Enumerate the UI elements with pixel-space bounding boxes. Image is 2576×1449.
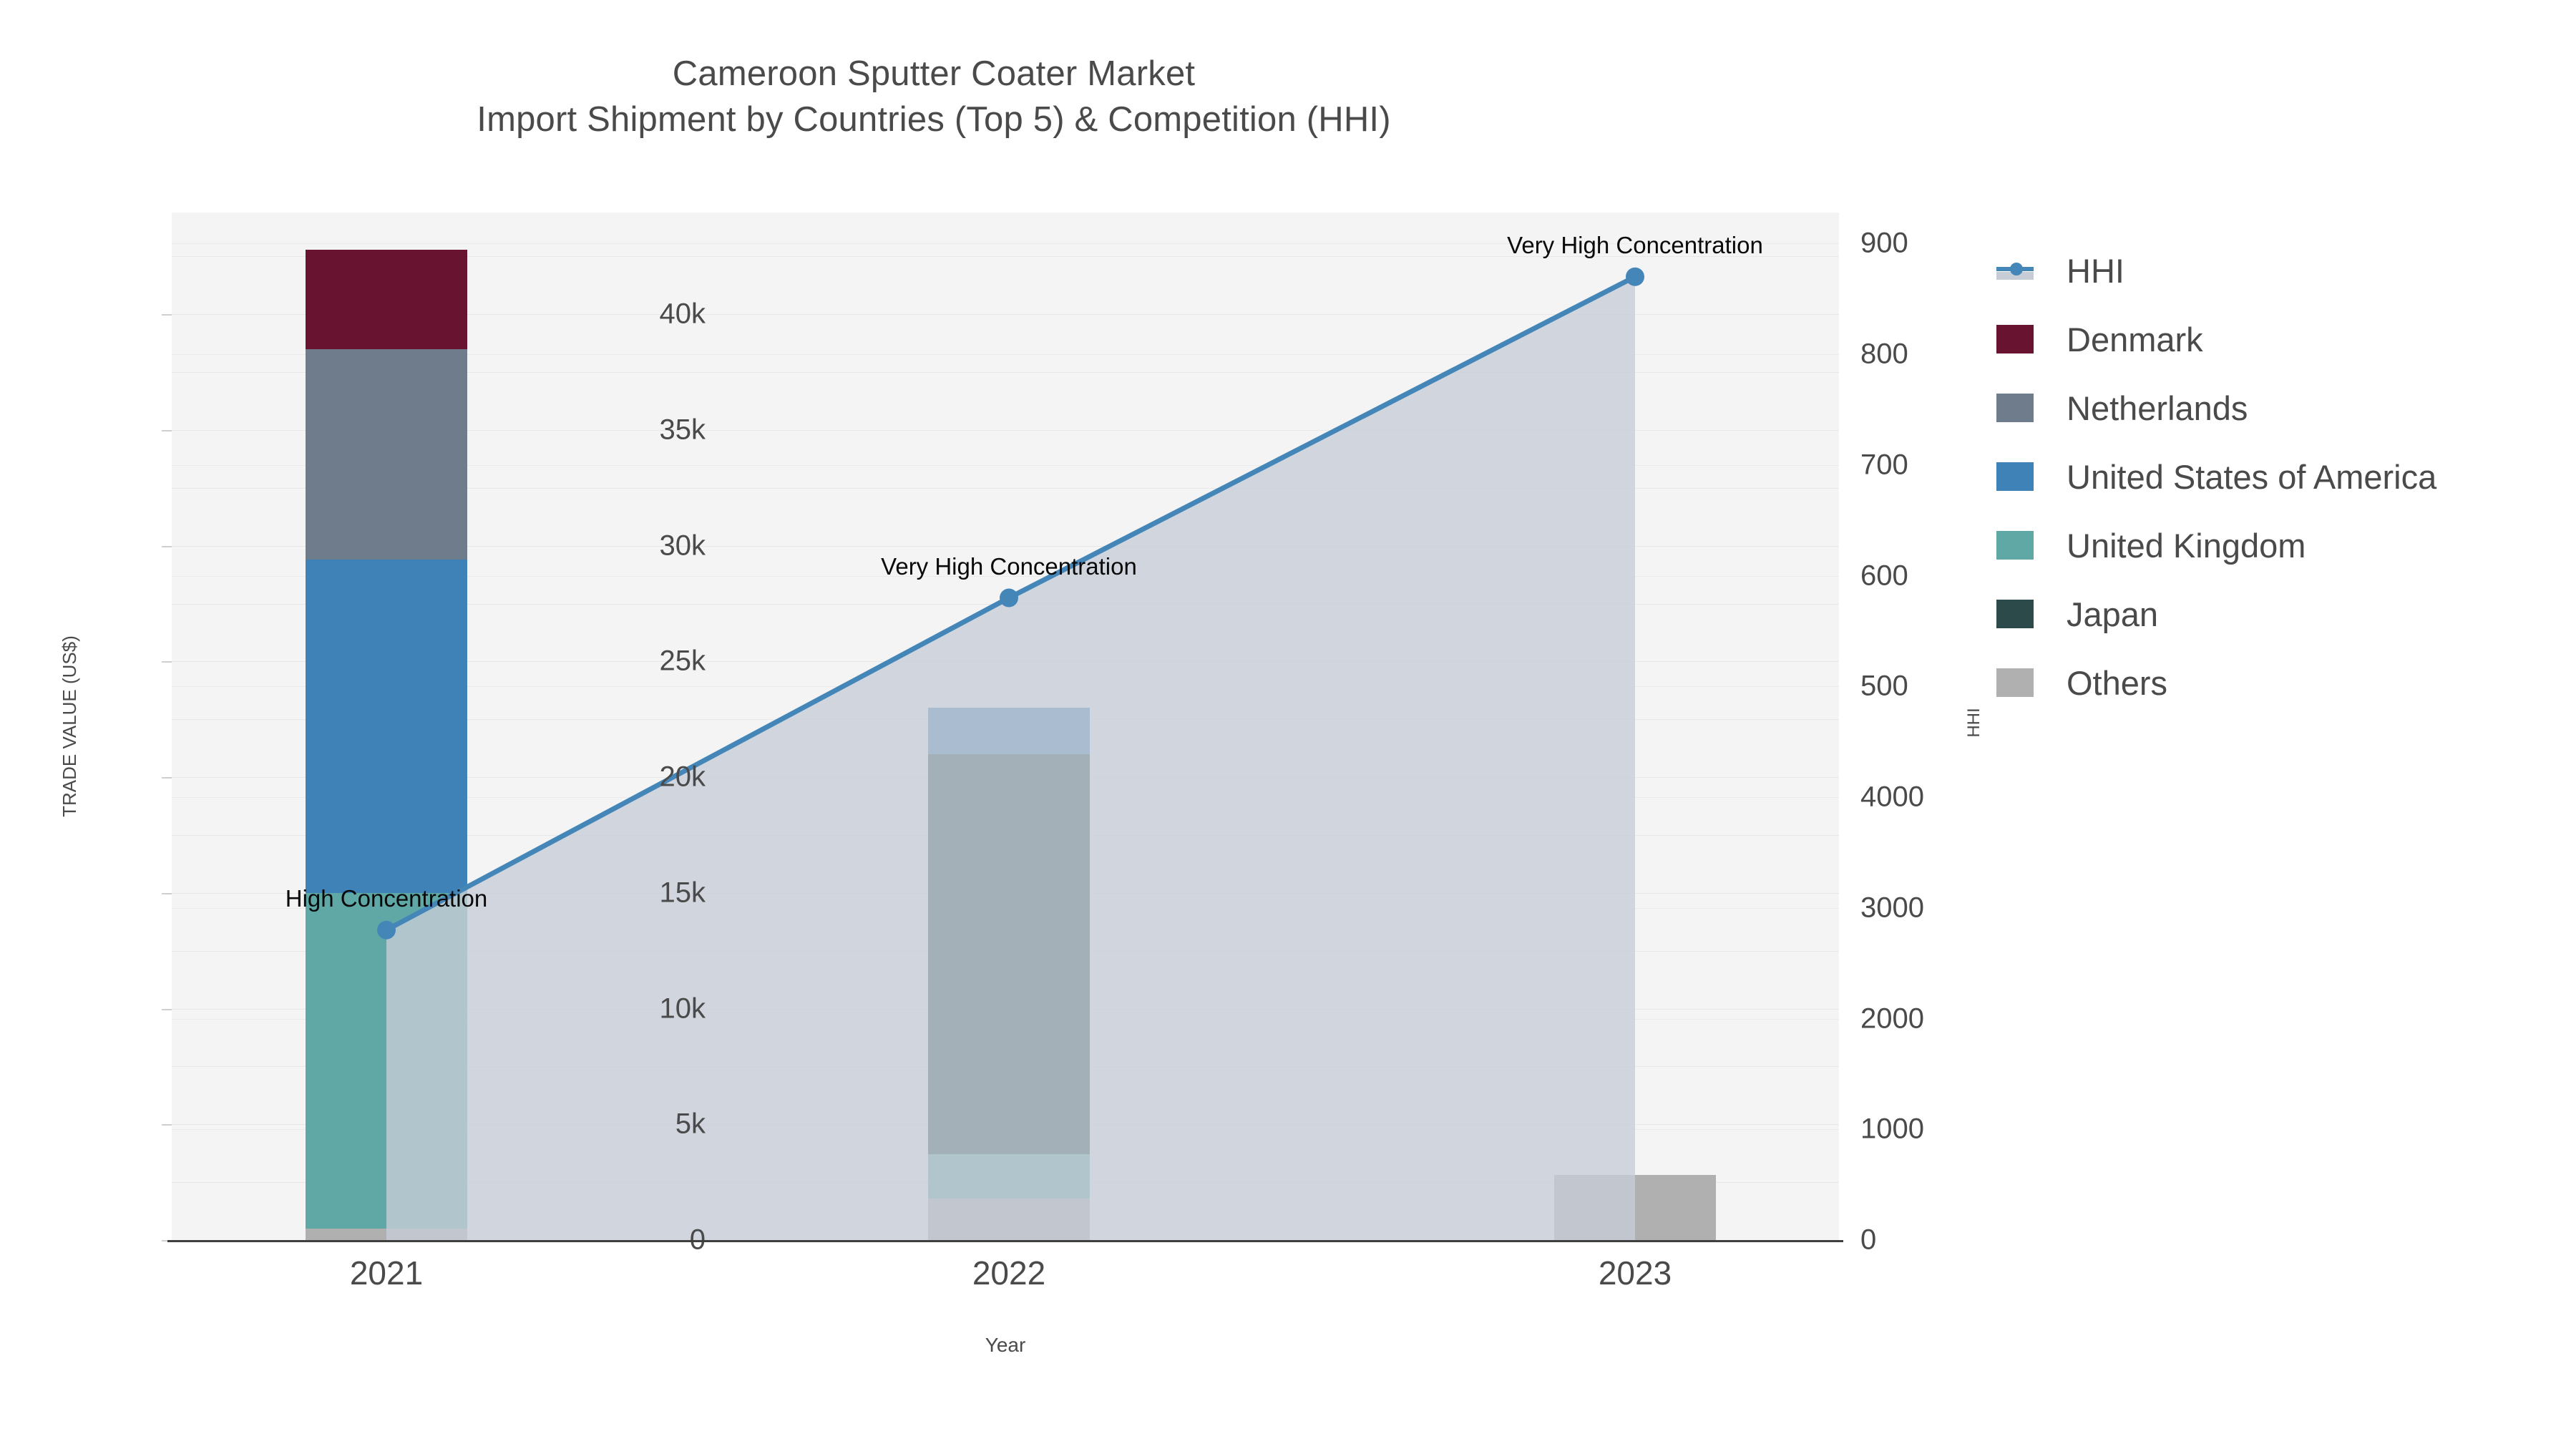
- y-axis-right-tick: 500: [1860, 670, 1908, 703]
- legend-item-label: Netherlands: [2067, 389, 2248, 428]
- hhi-area-fill: [172, 213, 1839, 1240]
- y-axis-left-tick-mark: [162, 546, 172, 547]
- annotation-2022: Very High Concentration: [881, 553, 1137, 580]
- y-axis-left-tick-mark: [162, 1124, 172, 1126]
- y-axis-right-tick: 4000: [1860, 781, 1924, 814]
- plot-area: [172, 213, 1839, 1240]
- y-axis-right-tick: 900: [1860, 228, 1908, 260]
- legend-item-label: Others: [2067, 663, 2167, 703]
- legend-item-label: United States of America: [2067, 457, 2436, 497]
- legend-item-label: HHI: [2067, 251, 2124, 291]
- y-axis-right-tick: 3000: [1860, 892, 1924, 924]
- legend-item-united-states-of-america[interactable]: United States of America: [1996, 442, 2436, 511]
- y-axis-left-tick-mark: [162, 430, 172, 431]
- legend-item-hhi[interactable]: HHI: [1996, 236, 2436, 305]
- annotation-2023: Very High Concentration: [1507, 232, 1763, 259]
- legend-swatch-icon: [1996, 668, 2034, 697]
- y-axis-left-tick-mark: [162, 314, 172, 316]
- legend-item-united-kingdom[interactable]: United Kingdom: [1996, 511, 2436, 580]
- y-axis-left-tick: 5k: [675, 1108, 706, 1141]
- y-axis-right-tick: 600: [1860, 560, 1908, 592]
- legend-item-japan[interactable]: Japan: [1996, 580, 2436, 648]
- x-axis-tick-2022: 2022: [972, 1254, 1045, 1292]
- legend-swatch-icon: [1996, 462, 2034, 491]
- chart-title-line2: Import Shipment by Countries (Top 5) & C…: [0, 97, 1868, 143]
- legend: HHIDenmarkNetherlandsUnited States of Am…: [1996, 236, 2436, 717]
- y-axis-left-tick: 10k: [660, 992, 706, 1025]
- x-axis-line: [167, 1240, 1843, 1242]
- legend-item-others[interactable]: Others: [1996, 648, 2436, 717]
- y-axis-right-tick: 800: [1860, 338, 1908, 371]
- y-axis-right-tick: 2000: [1860, 1002, 1924, 1035]
- y-axis-left-tick: 35k: [660, 414, 706, 447]
- y-axis-left-label: TRADE VALUE (US$): [59, 635, 81, 817]
- legend-item-label: United Kingdom: [2067, 526, 2306, 565]
- legend-swatch-icon: [1996, 394, 2034, 422]
- y-axis-left-tick: 25k: [660, 645, 706, 678]
- legend-item-label: Denmark: [2067, 320, 2203, 359]
- y-axis-left-tick: 30k: [660, 530, 706, 562]
- y-axis-right-label: HHI: [1964, 708, 1984, 737]
- legend-item-label: Japan: [2067, 595, 2158, 634]
- legend-swatch-icon: [1996, 531, 2034, 560]
- y-axis-left-tick: 40k: [660, 298, 706, 331]
- y-axis-left-tick-mark: [162, 661, 172, 663]
- chart-title-line1: Cameroon Sputter Coater Market: [0, 52, 1868, 97]
- y-axis-left-tick-mark: [162, 893, 172, 894]
- annotation-2021: High Concentration: [286, 885, 488, 912]
- plot-clip: [172, 213, 1839, 1240]
- legend-swatch-icon: [1996, 325, 2034, 353]
- y-axis-right-tick: 1000: [1860, 1113, 1924, 1146]
- legend-item-netherlands[interactable]: Netherlands: [1996, 374, 2436, 442]
- legend-line-marker-icon: [1996, 256, 2034, 285]
- legend-swatch-icon: [1996, 600, 2034, 628]
- x-axis-tick-2023: 2023: [1599, 1254, 1672, 1292]
- hhi-area-path: [386, 277, 1635, 1240]
- chart-title: Cameroon Sputter Coater Market Import Sh…: [0, 52, 1868, 142]
- y-axis-right-tick: 0: [1860, 1224, 1876, 1257]
- x-axis-label: Year: [985, 1334, 1026, 1357]
- y-axis-left-tick-mark: [162, 777, 172, 779]
- x-axis-tick-2021: 2021: [350, 1254, 423, 1292]
- y-axis-left-tick-mark: [162, 1009, 172, 1010]
- y-axis-left-tick: 15k: [660, 877, 706, 909]
- y-axis-left-tick: 20k: [660, 761, 706, 794]
- legend-item-denmark[interactable]: Denmark: [1996, 305, 2436, 374]
- y-axis-right-tick: 700: [1860, 449, 1908, 481]
